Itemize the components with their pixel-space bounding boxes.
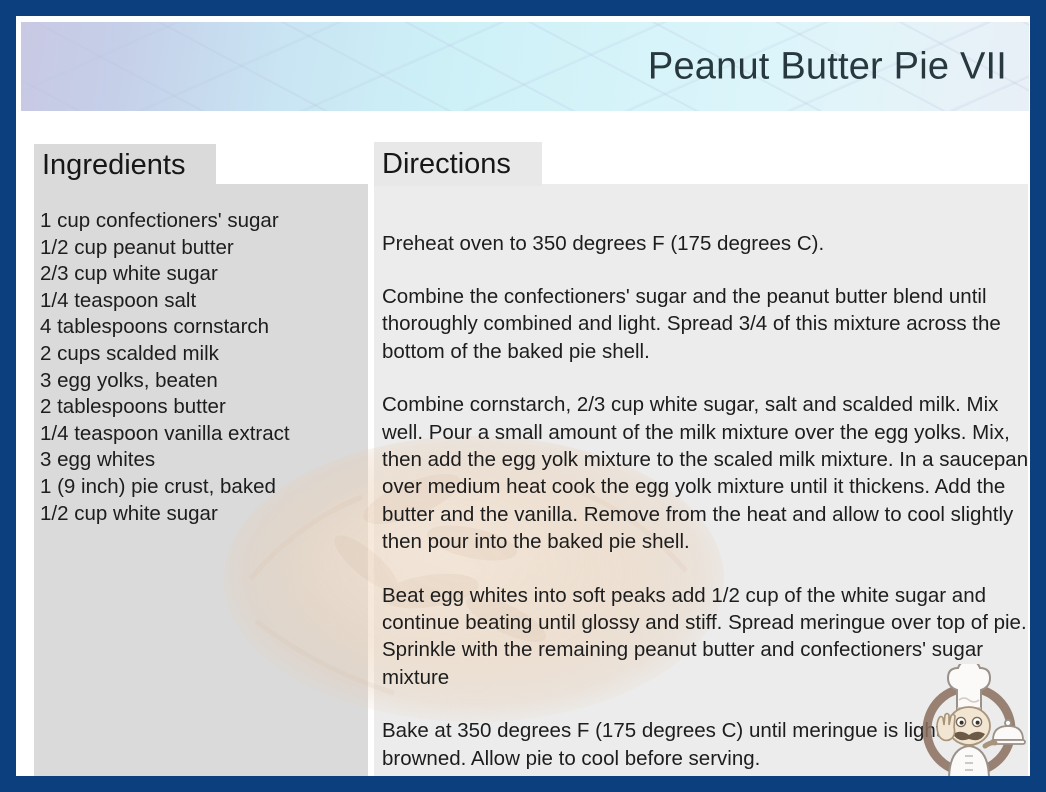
tab-ingredients-label: Ingredients [42, 149, 186, 182]
list-item: 4 tablespoons cornstarch [40, 314, 365, 341]
tab-directions-label: Directions [382, 148, 511, 181]
list-item: 1 cup confectioners' sugar [40, 208, 365, 235]
direction-step: Preheat oven to 350 degrees F (175 degre… [382, 230, 1030, 257]
ingredients-list: 1 cup confectioners' sugar 1/2 cup peanu… [40, 208, 365, 527]
direction-step: Combine cornstarch, 2/3 cup white sugar,… [382, 391, 1030, 555]
chef-mascot-logo [909, 664, 1029, 784]
list-item: 2 cups scalded milk [40, 341, 365, 368]
recipe-title: Peanut Butter Pie VII [648, 45, 1007, 88]
list-item: 3 egg whites [40, 447, 365, 474]
list-item: 1/4 teaspoon salt [40, 288, 365, 315]
list-item: 1/2 cup peanut butter [40, 235, 365, 262]
tab-directions[interactable]: Directions [374, 142, 542, 186]
tab-ingredients[interactable]: Ingredients [34, 144, 216, 186]
recipe-card: Peanut Butter Pie VII Ingredients Direct… [0, 0, 1046, 792]
list-item: 2 tablespoons butter [40, 394, 365, 421]
title-banner: Peanut Butter Pie VII [21, 22, 1029, 111]
list-item: 1/2 cup white sugar [40, 501, 365, 528]
list-item: 1/4 teaspoon vanilla extract [40, 421, 365, 448]
direction-step: Combine the confectioners' sugar and the… [382, 283, 1030, 365]
list-item: 1 (9 inch) pie crust, baked [40, 474, 365, 501]
list-item: 3 egg yolks, beaten [40, 368, 365, 395]
list-item: 2/3 cup white sugar [40, 261, 365, 288]
